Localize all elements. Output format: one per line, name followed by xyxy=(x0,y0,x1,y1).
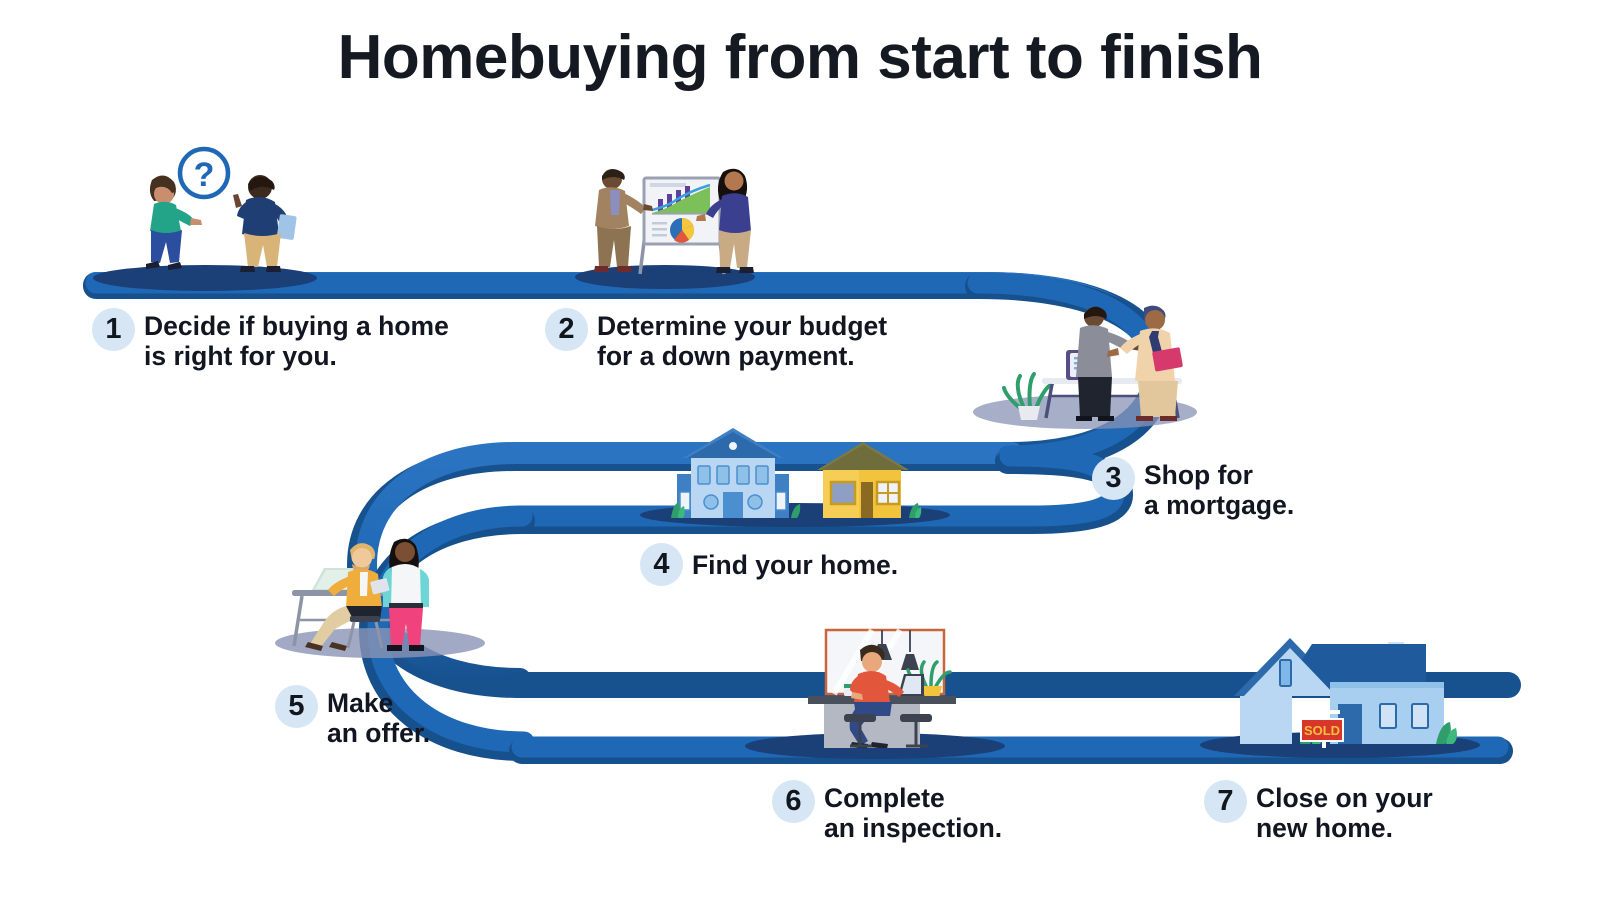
platform-shadow xyxy=(973,395,1197,429)
step-1[interactable]: 1 Decide if buying a home is right for y… xyxy=(92,308,449,371)
step-5-badge: 5 xyxy=(275,685,318,728)
step-4-badge: 4 xyxy=(640,543,683,586)
step-5-label: Make an offer. xyxy=(327,685,430,748)
step-5[interactable]: 5 Make an offer. xyxy=(275,685,430,748)
journey-path xyxy=(0,0,1600,900)
step-2-label: Determine your budget for a down payment… xyxy=(597,308,887,371)
step-7-badge: 7 xyxy=(1204,780,1247,823)
step-3-badge: 3 xyxy=(1092,457,1135,500)
step-1-label: Decide if buying a home is right for you… xyxy=(144,308,449,371)
platform-shadow xyxy=(640,503,950,527)
step-4[interactable]: 4 Find your home. xyxy=(640,543,898,586)
platform-shadow xyxy=(1200,732,1480,758)
platform-shadow xyxy=(575,265,755,289)
platform-shadow xyxy=(745,733,1005,759)
platform-shadow xyxy=(275,628,485,658)
step-7[interactable]: 7 Close on your new home. xyxy=(1204,780,1433,843)
step-7-label: Close on your new home. xyxy=(1256,780,1433,843)
step-1-badge: 1 xyxy=(92,308,135,351)
step-2-badge: 2 xyxy=(545,308,588,351)
step-3[interactable]: 3 Shop for a mortgage. xyxy=(1092,457,1294,520)
platform-shadow xyxy=(93,265,317,291)
step-2[interactable]: 2 Determine your budget for a down payme… xyxy=(545,308,887,371)
homebuying-infographic: Homebuying from start to finish xyxy=(0,0,1600,900)
step-6-badge: 6 xyxy=(772,780,815,823)
step-6[interactable]: 6 Complete an inspection. xyxy=(772,780,1002,843)
step-6-label: Complete an inspection. xyxy=(824,780,1002,843)
step-3-label: Shop for a mortgage. xyxy=(1144,457,1294,520)
step-4-label: Find your home. xyxy=(692,543,898,580)
